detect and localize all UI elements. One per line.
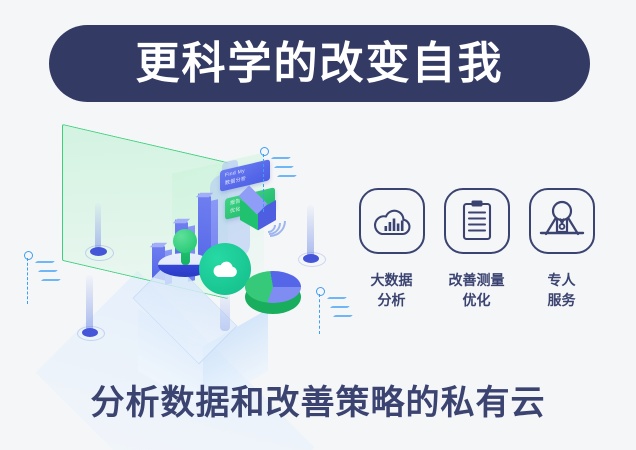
dash-mark (274, 166, 294, 168)
dotted-marker-ring (24, 251, 33, 260)
dash-mark (35, 261, 55, 263)
dash-mark (38, 270, 58, 272)
dash-mark (271, 157, 291, 159)
feature-icon-frame (529, 188, 595, 254)
dotted-marker-ring (260, 147, 269, 156)
feature-icon-frame (444, 188, 510, 254)
dash-mark (41, 279, 61, 281)
cloud-icon (211, 259, 239, 279)
feature-label: 专人 服务 (548, 270, 576, 311)
dotted-marker-line (263, 154, 264, 212)
cloud-bar-chart-icon (370, 204, 414, 238)
panel-marker-base (90, 247, 107, 256)
marker-pin-stem (86, 275, 93, 331)
dash-mark (333, 315, 353, 317)
feature-icon-frame (359, 188, 425, 254)
green-pin-ball (173, 229, 197, 253)
service-person-icon (539, 200, 585, 242)
pie-chart-top (245, 271, 301, 303)
isometric-illustration: Find My 数据分析 报告 优化建议 (20, 125, 350, 375)
feature-item-measurement-optimization[interactable]: 改善测量 优化 (437, 188, 516, 311)
cloud-badge (199, 243, 251, 295)
panel-marker-stem (95, 203, 101, 249)
feature-label: 改善测量 优化 (449, 270, 505, 311)
marker-pin-base (303, 254, 319, 263)
clipboard-icon (459, 199, 495, 243)
marker-pin-base (82, 328, 98, 337)
title-banner: 更科学的改变自我 (49, 25, 590, 102)
dash-mark (327, 297, 347, 299)
cloud-badge-stem (220, 291, 230, 331)
marker-pin-stem (307, 205, 314, 257)
dotted-marker-ring (316, 287, 325, 296)
feature-item-dedicated-service[interactable]: 专人 服务 (522, 188, 601, 311)
dash-mark (277, 175, 297, 177)
page-title: 更科学的改变自我 (136, 42, 504, 86)
dotted-marker-line (27, 258, 28, 304)
dash-mark (330, 306, 350, 308)
tagline: 分析数据和改善策略的私有云 (0, 386, 636, 420)
dotted-marker-line (319, 294, 320, 334)
poster-canvas: 更科学的改变自我 Find (0, 0, 636, 450)
feature-item-big-data-analysis[interactable]: 大数据 分析 (352, 188, 431, 311)
feature-list: 大数据 分析 改善测量 优化 (352, 188, 602, 311)
feature-label: 大数据 分析 (371, 270, 413, 311)
